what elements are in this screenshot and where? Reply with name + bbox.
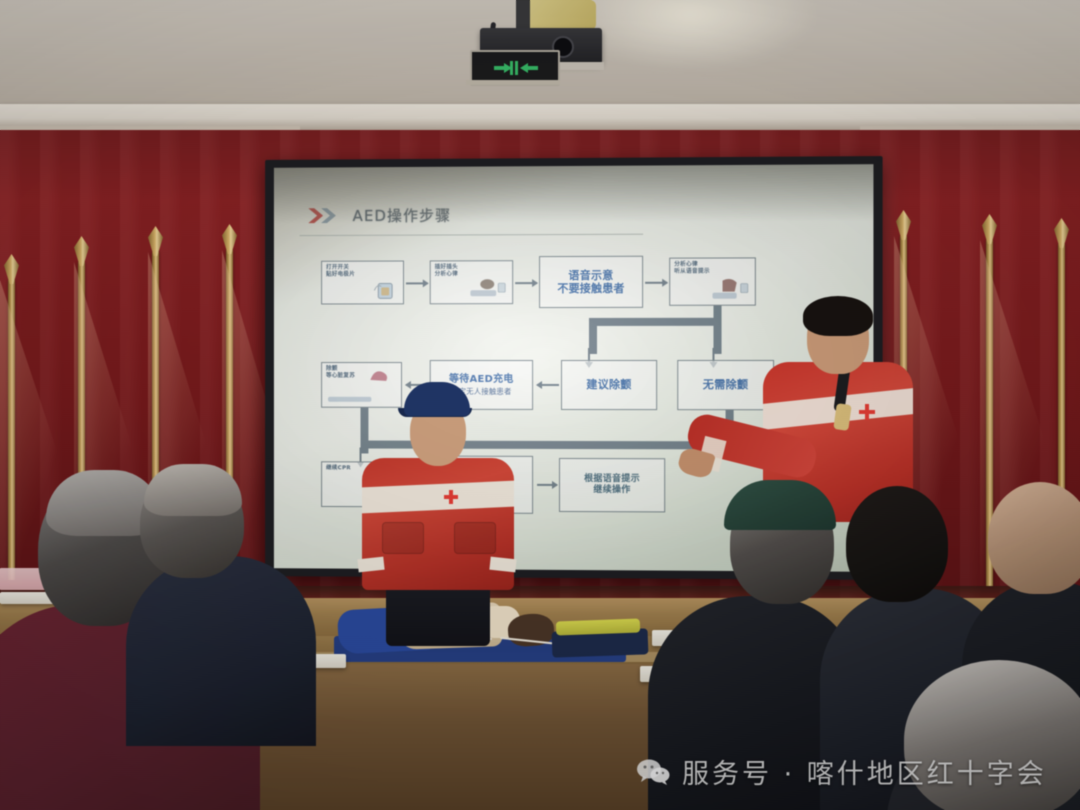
flow-step-7: 建议除颤 [561,360,657,410]
demonstrator-cap [404,382,470,416]
flow-step-3-line2: 不要接触患者 [557,282,624,296]
flow-step-11-line1: 根据语音提示 [584,474,640,485]
aed-trainer-lid [556,619,640,636]
flow-connector-4-8 [713,306,721,354]
flow-step-5-line2: 等心脏复苏 [326,373,355,380]
flow-arrow-3-4 [645,282,667,284]
slide-header: AED操作步骤 [307,205,451,227]
flow-step-3-line1: 语音示意 [568,268,613,282]
demonstrator-cuff-right [489,557,516,573]
demonstrator-legs [386,582,490,646]
flow-step-2-line2: 分析心律 [435,271,458,278]
flow-step-9-line1: 继续CPR [326,465,351,472]
aed-device-thumbnail-icon [372,281,398,299]
watermark-text: 服务号 · 喀什地区红十字会 [682,752,1047,791]
flow-arrow-10-11 [537,484,557,486]
exit-arrows-icon [480,59,550,77]
audience-member-head [846,486,948,602]
slide-title: AED操作步骤 [353,205,452,226]
double-chevron-right-icon [307,207,340,224]
flow-step-3: 语音示意 不要接触患者 [539,256,643,308]
red-cross-emblem-icon [444,490,458,504]
watermark: 服务号 · 喀什地区红十字会 [636,752,1047,791]
rescuer-thumbnail-icon [468,278,508,300]
slide-title-divider [299,234,643,236]
flow-step-8-line1: 无需除颤 [703,378,749,391]
demonstrator-figure [356,382,521,612]
flow-connector-branch3 [589,318,597,354]
flow-arrow-2-3 [515,282,537,284]
flow-connector-branch2 [589,318,677,326]
flow-step-1-line2: 贴好电极片 [326,271,355,278]
flow-step-2: 插好插头 分析心律 [430,260,513,304]
exit-sign-shelf [466,80,560,85]
flow-step-7-line1: 建议除颤 [586,378,631,391]
flow-step-1: 打开开关 贴好电极片 [321,261,404,305]
flow-step-4-line2: 听从语音提示 [674,268,710,275]
flow-step-11-line2: 继续操作 [593,485,630,496]
photograph-canvas: AED操作步骤 打开开关 贴好电极片 插好插头 分析心律 [0,0,1080,810]
patient-thumbnail-icon [710,278,750,302]
demonstrator-pocket-right [454,522,496,554]
audience-member-body [126,556,316,746]
flow-step-5-line1: 除颤 [326,366,338,373]
flow-arrow-1-2 [406,282,428,284]
flow-step-4: 分析心律 听从语音提示 [669,257,756,305]
flow-arrow-7-6 [537,384,559,386]
presenter-hair [803,296,873,336]
audience-member-head-bald [988,482,1080,594]
wechat-icon [636,758,670,786]
audience-member-hair [144,464,242,516]
red-cross-emblem-icon [859,404,875,420]
ceiling-insulation-patch [524,0,596,30]
demonstrator-cuff-left [357,557,384,573]
demonstrator-pocket-left [382,522,424,554]
flow-step-11: 根据语音提示 继续操作 [559,458,665,512]
